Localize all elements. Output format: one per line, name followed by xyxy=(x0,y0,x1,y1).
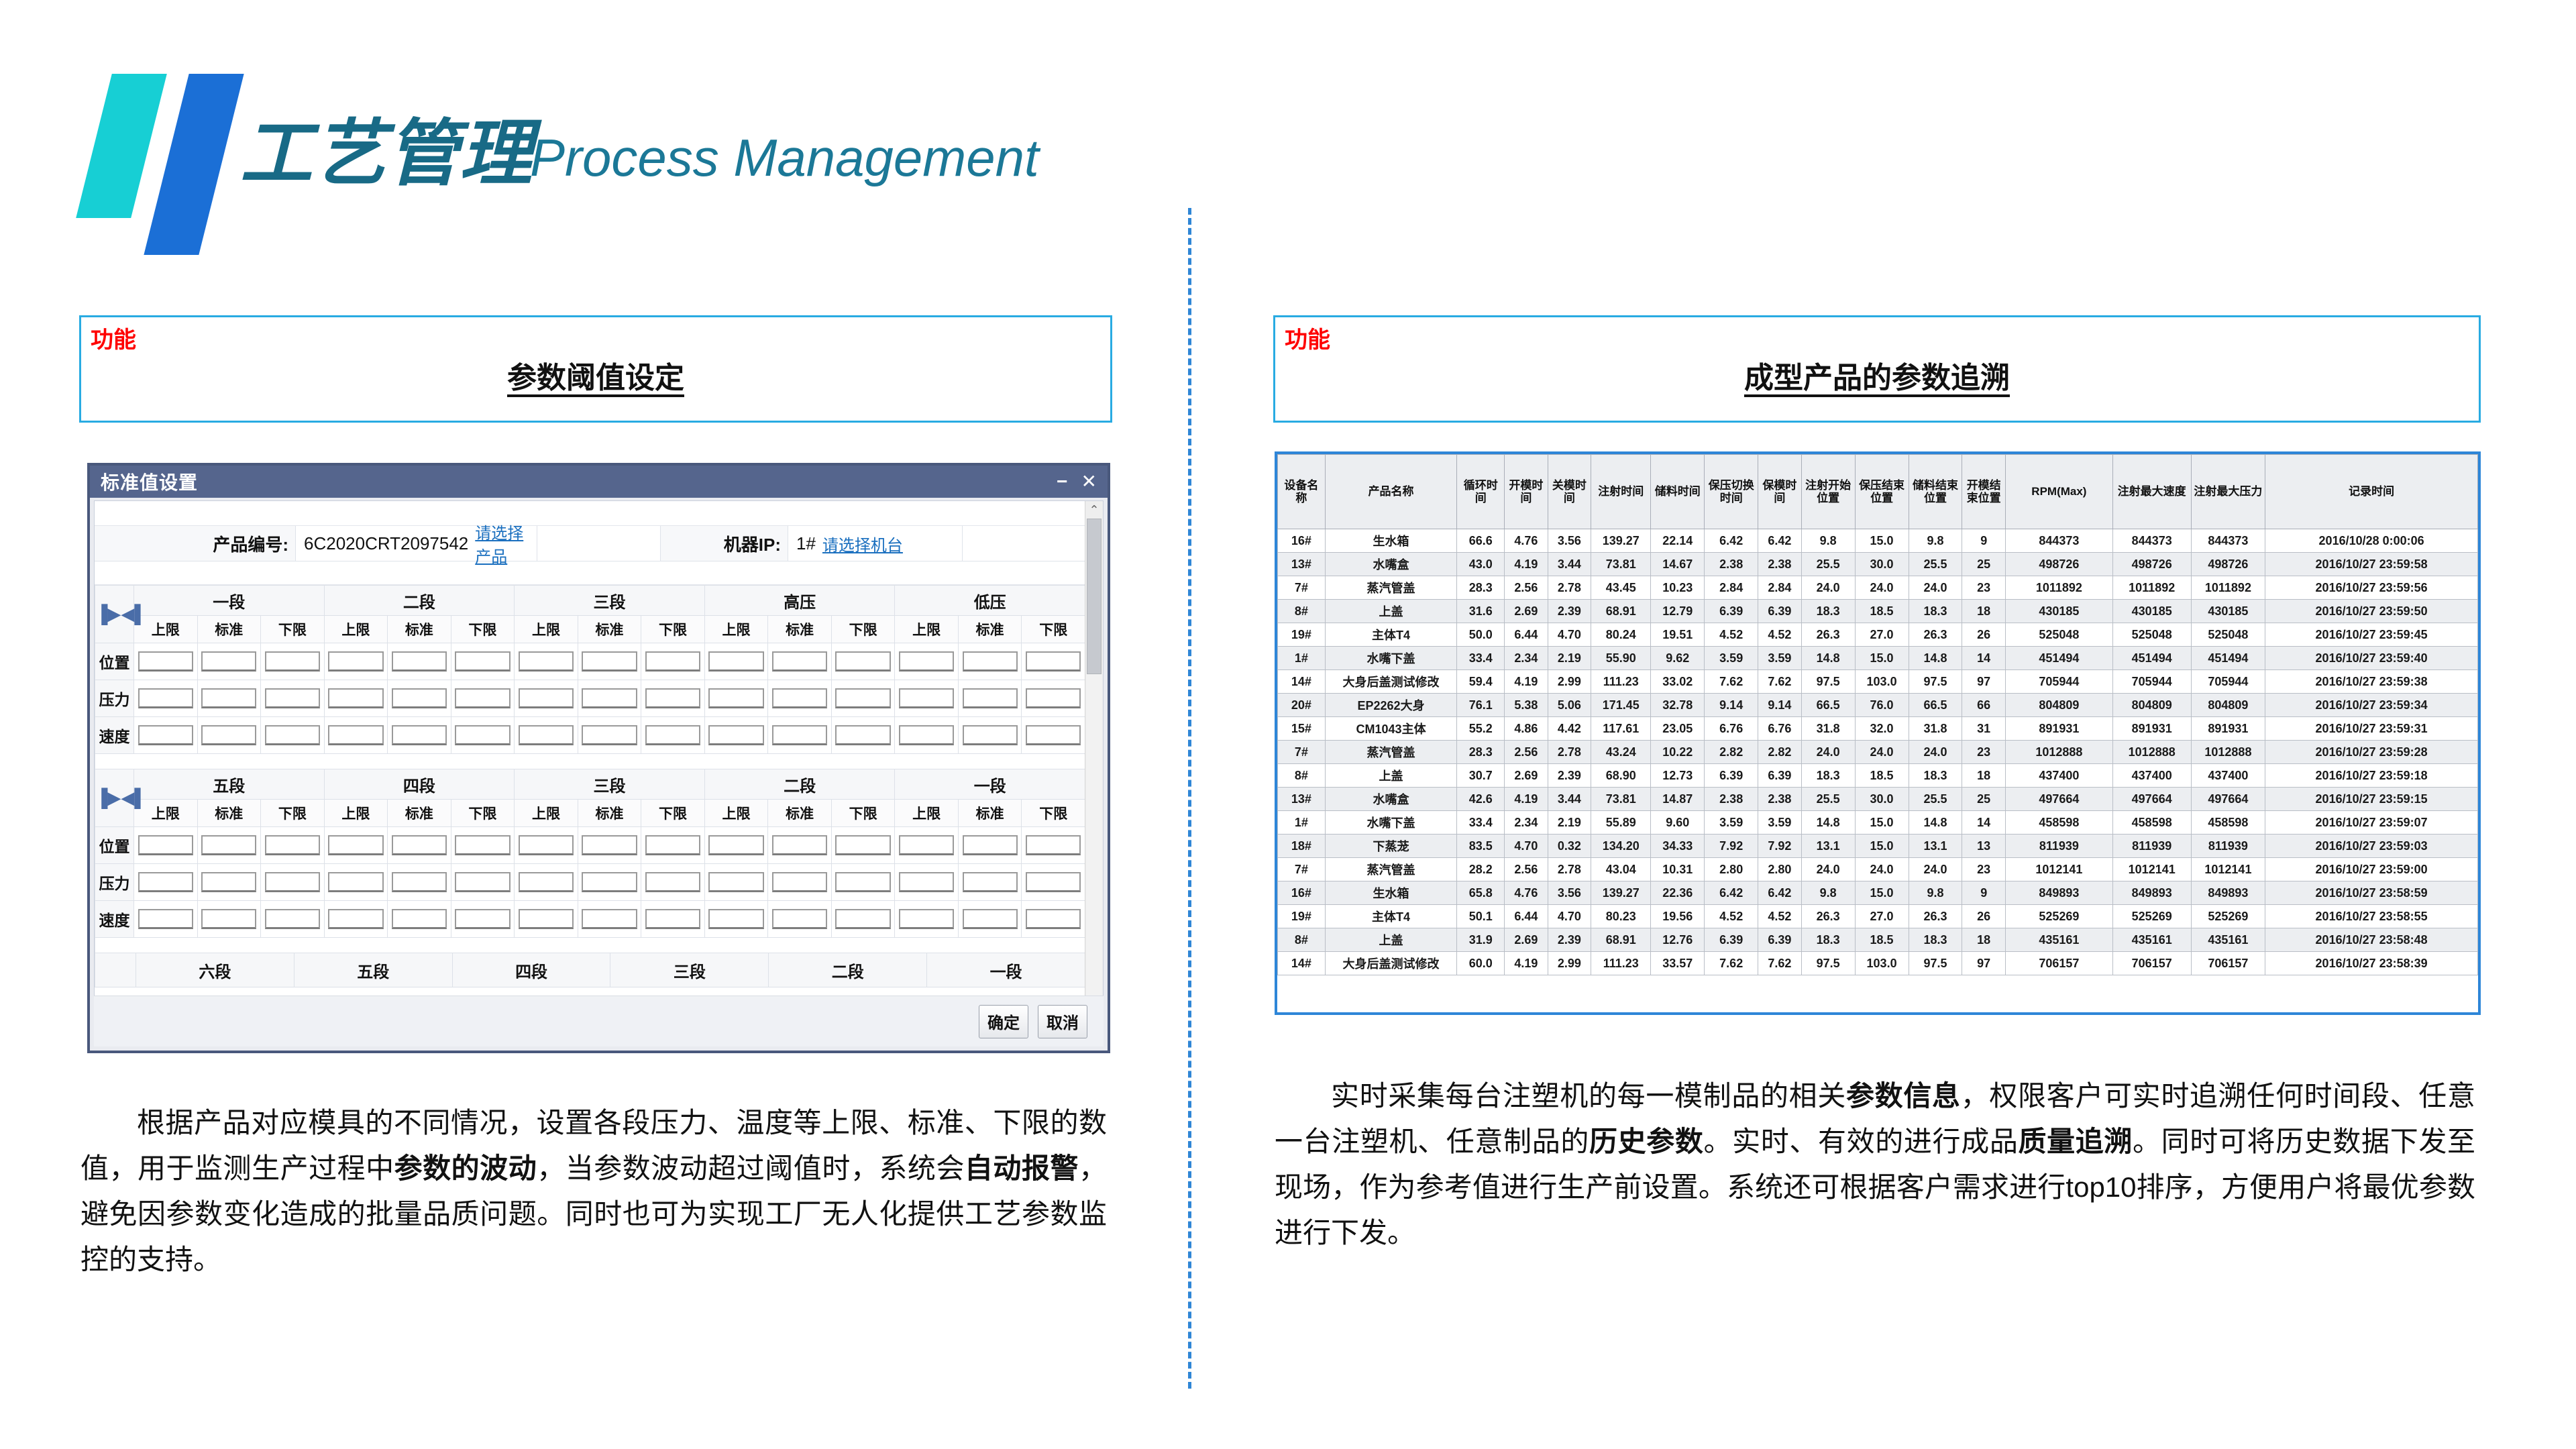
table-row[interactable]: 16#生水箱65.84.763.56139.2722.366.426.429.8… xyxy=(1278,881,2478,905)
parameter-input[interactable] xyxy=(708,872,763,892)
page-title-en: Process Management xyxy=(530,131,1039,184)
parameter-input-cell[interactable] xyxy=(895,827,959,864)
parameter-input[interactable] xyxy=(201,909,256,929)
table-cell: 1011892 xyxy=(2005,576,2112,600)
table-cell: 97 xyxy=(1962,670,2006,694)
parameter-input[interactable] xyxy=(1026,651,1081,672)
parameter-input[interactable] xyxy=(708,651,763,672)
parameter-input[interactable] xyxy=(519,872,574,892)
parameter-input-cell[interactable] xyxy=(1022,901,1085,938)
ok-button[interactable]: 确定 xyxy=(979,1005,1028,1038)
parameter-input[interactable] xyxy=(328,651,383,672)
bottom-segment-header-4[interactable]: 三段 xyxy=(610,953,769,987)
parameter-input[interactable] xyxy=(582,909,637,929)
parameter-input-cell[interactable] xyxy=(895,680,959,717)
parameter-input-cell[interactable] xyxy=(324,901,388,938)
parameter-input[interactable] xyxy=(1026,688,1081,708)
parameter-input-cell[interactable] xyxy=(768,827,832,864)
parameter-input-cell[interactable] xyxy=(641,827,705,864)
parameter-input-cell[interactable] xyxy=(768,717,832,754)
parameter-input[interactable] xyxy=(582,835,637,855)
parameter-input-cell[interactable] xyxy=(388,680,451,717)
scrollbar-thumb[interactable] xyxy=(1087,519,1102,674)
parameter-input-cell[interactable] xyxy=(324,680,388,717)
parameter-input[interactable] xyxy=(899,909,954,929)
parameter-input[interactable] xyxy=(265,688,320,708)
limit-header-cell: 上限 xyxy=(515,616,578,643)
parameter-input-cell[interactable] xyxy=(197,864,261,901)
parameter-input[interactable] xyxy=(392,651,447,672)
table-cell: 27.0 xyxy=(1855,905,1909,928)
parameter-input-cell[interactable] xyxy=(831,901,895,938)
table-cell: 1# xyxy=(1278,811,1326,835)
parameter-input[interactable] xyxy=(963,872,1018,892)
bottom-segment-header-1[interactable]: 六段 xyxy=(136,953,294,987)
parameter-input[interactable] xyxy=(201,688,256,708)
parameter-input-cell[interactable] xyxy=(704,680,768,717)
bottom-segment-header-3[interactable]: 四段 xyxy=(452,953,610,987)
product-code-value: 6C2020CRT2097542 xyxy=(304,533,468,554)
table-cell: 24.0 xyxy=(1801,741,1855,764)
parameter-input-cell[interactable] xyxy=(578,717,641,754)
parameter-input[interactable] xyxy=(899,651,954,672)
bottom-segment-header-2[interactable]: 五段 xyxy=(294,953,452,987)
parameter-input-cell[interactable] xyxy=(261,680,325,717)
limit-header-row: 上限标准下限上限标准下限上限标准下限上限标准下限上限标准下限 xyxy=(95,800,1085,827)
table-row[interactable]: 16#生水箱66.64.763.56139.2722.146.426.429.8… xyxy=(1278,529,2478,553)
parameter-input-cell[interactable] xyxy=(515,717,578,754)
limit-header-cell: 上限 xyxy=(704,800,768,827)
parameter-input[interactable] xyxy=(963,725,1018,745)
trace-col-header-17[interactable]: 记录时间 xyxy=(2265,455,2478,529)
parameter-input-cell[interactable] xyxy=(958,680,1022,717)
parameter-input-cell[interactable] xyxy=(641,901,705,938)
table-cell: 134.20 xyxy=(1591,835,1651,858)
parameter-input[interactable] xyxy=(138,725,193,745)
limit-header-cell: 标准 xyxy=(388,800,451,827)
parameter-input-cell[interactable] xyxy=(704,864,768,901)
table-cell: 3.44 xyxy=(1548,788,1591,811)
parameter-input[interactable] xyxy=(392,909,447,929)
parameter-input-cell[interactable] xyxy=(451,864,515,901)
parameter-input-cell[interactable] xyxy=(261,901,325,938)
parameter-input[interactable] xyxy=(138,688,193,708)
parameter-input[interactable] xyxy=(328,872,383,892)
parameter-input[interactable] xyxy=(328,909,383,929)
parameter-input-cell[interactable] xyxy=(261,827,325,864)
parameter-input-cell[interactable] xyxy=(578,827,641,864)
trace-col-header-1[interactable]: 设备名称 xyxy=(1278,455,1326,529)
table-cell: 1011892 xyxy=(2112,576,2191,600)
table-cell: 18.3 xyxy=(1909,928,1962,952)
table-cell: EP2262大身 xyxy=(1325,694,1457,717)
parameter-input-cell[interactable] xyxy=(831,827,895,864)
machine-ip-value: 1# xyxy=(796,533,816,554)
limit-header-cell: 下限 xyxy=(831,800,895,827)
table-cell: 2.34 xyxy=(1505,647,1548,670)
table-cell: 451494 xyxy=(2191,647,2265,670)
parameter-input[interactable] xyxy=(963,688,1018,708)
table-cell: 525269 xyxy=(2112,905,2191,928)
parameter-input[interactable] xyxy=(265,725,320,745)
parameter-input-cell[interactable] xyxy=(451,643,515,680)
table-cell: 14.8 xyxy=(1909,647,1962,670)
parameter-input-cell[interactable] xyxy=(641,643,705,680)
trace-col-header-10[interactable]: 注射开始位置 xyxy=(1801,455,1855,529)
parameter-input-cell[interactable] xyxy=(831,864,895,901)
parameter-input-cell[interactable] xyxy=(324,643,388,680)
parameter-input-cell[interactable] xyxy=(134,901,198,938)
parameter-input[interactable] xyxy=(138,835,193,855)
parameter-input[interactable] xyxy=(328,688,383,708)
parameter-input-cell[interactable] xyxy=(388,901,451,938)
table-row[interactable]: 15#CM1043主体55.24.864.42117.6123.056.766.… xyxy=(1278,717,2478,741)
table-cell: 891931 xyxy=(2005,717,2112,741)
parameter-grid-section-2[interactable]: ▐▶◀▌五段四段三段二段一段上限标准下限上限标准下限上限标准下限上限标准下限上限… xyxy=(95,769,1085,938)
parameter-input[interactable] xyxy=(201,725,256,745)
parameter-input[interactable] xyxy=(708,909,763,929)
parameter-input[interactable] xyxy=(201,872,256,892)
scrollbar-track[interactable] xyxy=(1087,674,1102,1028)
parameter-input[interactable] xyxy=(201,835,256,855)
parameter-input-cell[interactable] xyxy=(578,901,641,938)
parameter-grid-section-1[interactable]: ▐▶◀▌一段二段三段高压低压上限标准下限上限标准下限上限标准下限上限标准下限上限… xyxy=(95,585,1085,754)
parameter-input-cell[interactable] xyxy=(831,680,895,717)
parameter-input[interactable] xyxy=(519,909,574,929)
parameter-row: 位置 xyxy=(95,827,1085,864)
parameter-input[interactable] xyxy=(265,835,320,855)
parameter-trace-table-container[interactable]: 设备名称产品名称循环时间开模时间关模时间注射时间储料时间保压切换时间保模时间注射… xyxy=(1275,451,2481,1015)
parameter-input[interactable] xyxy=(963,651,1018,672)
parameter-input[interactable] xyxy=(455,872,510,892)
parameter-input[interactable] xyxy=(455,909,510,929)
parameter-input[interactable] xyxy=(1026,872,1081,892)
parameter-input-cell[interactable] xyxy=(515,643,578,680)
parameter-input[interactable] xyxy=(582,872,637,892)
parameter-input-cell[interactable] xyxy=(958,717,1022,754)
table-cell: 2.80 xyxy=(1705,858,1758,881)
parameter-input[interactable] xyxy=(835,835,890,855)
parameter-input[interactable] xyxy=(899,835,954,855)
parameter-input[interactable] xyxy=(899,725,954,745)
parameter-input[interactable] xyxy=(645,872,700,892)
table-row[interactable]: 19#主体T450.06.444.7080.2419.514.524.5226.… xyxy=(1278,623,2478,647)
parameter-input-cell[interactable] xyxy=(768,864,832,901)
trace-col-header-5[interactable]: 关模时间 xyxy=(1548,455,1591,529)
parameter-input-cell[interactable] xyxy=(197,717,261,754)
parameter-input[interactable] xyxy=(1026,909,1081,929)
table-cell: 26.3 xyxy=(1909,905,1962,928)
parameter-input-cell[interactable] xyxy=(515,864,578,901)
parameter-input-cell[interactable] xyxy=(451,717,515,754)
trace-col-header-14[interactable]: RPM(Max) xyxy=(2005,455,2112,529)
parameter-input[interactable] xyxy=(645,835,700,855)
parameter-input-cell[interactable] xyxy=(388,643,451,680)
table-cell: 68.90 xyxy=(1591,764,1651,788)
parameter-input-cell[interactable] xyxy=(261,643,325,680)
parameter-input-cell[interactable] xyxy=(641,864,705,901)
parameter-input-cell[interactable] xyxy=(261,717,325,754)
parameter-input[interactable] xyxy=(645,651,700,672)
parameter-trace-table[interactable]: 设备名称产品名称循环时间开模时间关模时间注射时间储料时间保压切换时间保模时间注射… xyxy=(1277,454,2478,975)
parameter-input[interactable] xyxy=(519,651,574,672)
parameter-input-cell[interactable] xyxy=(1022,680,1085,717)
trace-col-header-8[interactable]: 保压切换时间 xyxy=(1705,455,1758,529)
parameter-input[interactable] xyxy=(455,835,510,855)
table-row[interactable]: 7#蒸汽管盖28.32.562.7843.4510.232.842.8424.0… xyxy=(1278,576,2478,600)
table-row[interactable]: 8#上盖31.62.692.3968.9112.796.396.3918.318… xyxy=(1278,600,2478,623)
parameter-input-cell[interactable] xyxy=(704,717,768,754)
parameter-input-cell[interactable] xyxy=(578,643,641,680)
parameter-input-cell[interactable] xyxy=(388,827,451,864)
parameter-input[interactable] xyxy=(772,688,827,708)
parameter-input-cell[interactable] xyxy=(895,901,959,938)
parameter-input[interactable] xyxy=(772,909,827,929)
parameter-input-cell[interactable] xyxy=(958,827,1022,864)
parameter-input[interactable] xyxy=(328,835,383,855)
parameter-input[interactable] xyxy=(455,651,510,672)
trace-col-header-3[interactable]: 循环时间 xyxy=(1457,455,1505,529)
table-cell: 14.67 xyxy=(1651,553,1705,576)
table-row[interactable]: 18#下蒸茏83.54.700.32134.2034.337.927.9213.… xyxy=(1278,835,2478,858)
parameter-input[interactable] xyxy=(519,725,574,745)
table-cell: 19# xyxy=(1278,905,1326,928)
parameter-input-cell[interactable] xyxy=(958,864,1022,901)
parameter-input[interactable] xyxy=(835,725,890,745)
product-code-label: 产品编号: xyxy=(95,526,296,561)
parameter-input[interactable] xyxy=(963,909,1018,929)
parameter-input[interactable] xyxy=(392,835,447,855)
trace-col-header-12[interactable]: 储料结束位置 xyxy=(1909,455,1962,529)
minimize-icon[interactable]: − xyxy=(1057,472,1067,491)
dialog-vertical-scrollbar[interactable]: ⌃ ⌄ xyxy=(1085,501,1103,1046)
limit-header-cell: 标准 xyxy=(958,616,1022,643)
table-cell: 6.44 xyxy=(1505,623,1548,647)
parameter-input-cell[interactable] xyxy=(451,827,515,864)
parameter-input-cell[interactable] xyxy=(768,901,832,938)
parameter-input[interactable] xyxy=(201,651,256,672)
cancel-button[interactable]: 取消 xyxy=(1038,1005,1087,1038)
table-row[interactable]: 8#上盖30.72.692.3968.9012.736.396.3918.318… xyxy=(1278,764,2478,788)
table-cell: 525269 xyxy=(2191,905,2265,928)
parameter-input-cell[interactable] xyxy=(324,827,388,864)
parameter-input[interactable] xyxy=(392,725,447,745)
parameter-input-cell[interactable] xyxy=(641,680,705,717)
parameter-input-cell[interactable] xyxy=(451,901,515,938)
trace-col-header-16[interactable]: 注射最大压力 xyxy=(2191,455,2265,529)
table-cell: 498726 xyxy=(2191,553,2265,576)
parameter-input-cell[interactable] xyxy=(895,864,959,901)
parameter-input[interactable] xyxy=(265,872,320,892)
parameter-input[interactable] xyxy=(772,872,827,892)
parameter-input[interactable] xyxy=(835,651,890,672)
parameter-grid-section-3-header[interactable]: 六段五段四段三段二段一段 xyxy=(95,953,1085,987)
parameter-input-cell[interactable] xyxy=(324,864,388,901)
parameter-input-cell[interactable] xyxy=(324,717,388,754)
parameter-input[interactable] xyxy=(265,651,320,672)
trace-table-body[interactable]: 16#生水箱66.64.763.56139.2722.146.426.429.8… xyxy=(1278,529,2478,975)
trace-col-header-11[interactable]: 保压结束位置 xyxy=(1855,455,1909,529)
parameter-input-cell[interactable] xyxy=(134,680,198,717)
parameter-input-cell[interactable] xyxy=(197,680,261,717)
parameter-input[interactable] xyxy=(708,688,763,708)
table-cell: 7.92 xyxy=(1758,835,1802,858)
table-cell: 2.56 xyxy=(1505,741,1548,764)
parameter-input-cell[interactable] xyxy=(831,643,895,680)
parameter-input-cell[interactable] xyxy=(197,901,261,938)
trace-col-header-4[interactable]: 开模时间 xyxy=(1505,455,1548,529)
table-cell: 14 xyxy=(1962,811,2006,835)
table-row[interactable]: 13#水嘴盒43.04.193.4473.8114.672.382.3825.5… xyxy=(1278,553,2478,576)
parameter-input[interactable] xyxy=(582,725,637,745)
table-cell: 60.0 xyxy=(1457,952,1505,975)
product-code-field[interactable]: 6C2020CRT2097542 请选择产品 xyxy=(296,526,537,561)
trace-col-header-6[interactable]: 注射时间 xyxy=(1591,455,1651,529)
parameter-input-cell[interactable] xyxy=(578,680,641,717)
table-cell: 73.81 xyxy=(1591,553,1651,576)
parameter-input-cell[interactable] xyxy=(895,717,959,754)
parameter-input[interactable] xyxy=(1026,725,1081,745)
table-cell: 24.0 xyxy=(1855,741,1909,764)
parameter-input[interactable] xyxy=(582,688,637,708)
parameter-input-cell[interactable] xyxy=(768,680,832,717)
table-cell: 19# xyxy=(1278,623,1326,647)
parameter-input-cell[interactable] xyxy=(388,717,451,754)
table-cell: 6.39 xyxy=(1705,764,1758,788)
trace-col-header-15[interactable]: 注射最大速度 xyxy=(2112,455,2191,529)
parameter-input-cell[interactable] xyxy=(197,827,261,864)
parameter-input-cell[interactable] xyxy=(197,643,261,680)
parameter-input[interactable] xyxy=(392,872,447,892)
table-row[interactable]: 20#EP2262大身76.15.385.06171.4532.789.149.… xyxy=(1278,694,2478,717)
limit-header-cell: 下限 xyxy=(1022,616,1085,643)
table-cell: 12.76 xyxy=(1651,928,1705,952)
parameter-input[interactable] xyxy=(138,909,193,929)
table-cell: 6.39 xyxy=(1758,764,1802,788)
bottom-segment-header-5[interactable]: 二段 xyxy=(769,953,927,987)
parameter-input-cell[interactable] xyxy=(515,901,578,938)
parameter-input[interactable] xyxy=(519,688,574,708)
trace-col-header-13[interactable]: 开模结束位置 xyxy=(1962,455,2006,529)
parameter-input[interactable] xyxy=(1026,835,1081,855)
parameter-input-cell[interactable] xyxy=(831,717,895,754)
parameter-input-cell[interactable] xyxy=(261,864,325,901)
table-row[interactable]: 13#水嘴盒42.64.193.4473.8114.872.382.3825.5… xyxy=(1278,788,2478,811)
table-row[interactable]: 14#大身后盖测试修改60.04.192.99111.2333.577.627.… xyxy=(1278,952,2478,975)
parameter-input[interactable] xyxy=(582,651,637,672)
table-cell: 458598 xyxy=(2191,811,2265,835)
table-row[interactable]: 8#上盖31.92.692.3968.9112.766.396.3918.318… xyxy=(1278,928,2478,952)
parameter-input[interactable] xyxy=(328,725,383,745)
parameter-input[interactable] xyxy=(835,688,890,708)
parameter-input[interactable] xyxy=(455,688,510,708)
scroll-up-arrow-icon[interactable]: ⌃ xyxy=(1085,501,1103,519)
paragraph-text: 实时采集每台注塑机的每一模制品的相关 xyxy=(1331,1080,1846,1112)
parameter-input[interactable] xyxy=(645,688,700,708)
parameter-input-cell[interactable] xyxy=(515,827,578,864)
parameter-input[interactable] xyxy=(392,688,447,708)
standard-value-settings-dialog[interactable]: 标准值设置 − ✕ 产品编号: 6C2020CRT2097542 请选择产品 机… xyxy=(87,463,1110,1053)
table-cell: 主体T4 xyxy=(1325,623,1457,647)
trace-col-header-9[interactable]: 保模时间 xyxy=(1758,455,1802,529)
table-row[interactable]: 14#大身后盖测试修改59.44.192.99111.2333.027.627.… xyxy=(1278,670,2478,694)
parameter-input-cell[interactable] xyxy=(388,864,451,901)
parameter-input-cell[interactable] xyxy=(134,864,198,901)
parameter-input[interactable] xyxy=(899,688,954,708)
section-gap-2 xyxy=(95,938,1085,953)
parameter-input-cell[interactable] xyxy=(958,643,1022,680)
table-cell: 73.81 xyxy=(1591,788,1651,811)
parameter-input[interactable] xyxy=(835,872,890,892)
parameter-input[interactable] xyxy=(835,909,890,929)
parameter-input[interactable] xyxy=(645,725,700,745)
parameter-input-cell[interactable] xyxy=(641,717,705,754)
parameter-input-cell[interactable] xyxy=(134,827,198,864)
parameter-input[interactable] xyxy=(708,725,763,745)
parameter-input[interactable] xyxy=(455,725,510,745)
parameter-input-cell[interactable] xyxy=(451,680,515,717)
parameter-input-cell[interactable] xyxy=(515,680,578,717)
close-icon[interactable]: ✕ xyxy=(1081,472,1097,491)
segment-header-3: 三段 xyxy=(515,769,705,800)
select-product-link[interactable]: 请选择产品 xyxy=(475,520,537,567)
trace-col-header-2[interactable]: 产品名称 xyxy=(1325,455,1457,529)
table-cell: 2016/10/27 23:58:39 xyxy=(2265,952,2478,975)
parameter-input[interactable] xyxy=(708,835,763,855)
parameter-input-cell[interactable] xyxy=(578,864,641,901)
table-row[interactable]: 1#水嘴下盖33.42.342.1955.909.623.593.5914.81… xyxy=(1278,647,2478,670)
table-cell: 13.1 xyxy=(1909,835,1962,858)
parameter-input-cell[interactable] xyxy=(958,901,1022,938)
segment-header-3: 三段 xyxy=(515,586,705,616)
table-cell: 2.56 xyxy=(1505,858,1548,881)
parameter-input[interactable] xyxy=(138,872,193,892)
bottom-segment-header-6[interactable]: 一段 xyxy=(927,953,1085,987)
parameter-input-cell[interactable] xyxy=(1022,717,1085,754)
table-cell: 28.2 xyxy=(1457,858,1505,881)
table-row[interactable]: 7#蒸汽管盖28.22.562.7843.0410.312.802.8024.0… xyxy=(1278,858,2478,881)
table-row[interactable]: 1#水嘴下盖33.42.342.1955.899.603.593.5914.81… xyxy=(1278,811,2478,835)
parameter-input[interactable] xyxy=(963,835,1018,855)
parameter-input-cell[interactable] xyxy=(1022,643,1085,680)
trace-col-header-7[interactable]: 储料时间 xyxy=(1651,455,1705,529)
parameter-input[interactable] xyxy=(772,725,827,745)
parameter-input-cell[interactable] xyxy=(1022,864,1085,901)
parameter-input-cell[interactable] xyxy=(704,827,768,864)
parameter-input-cell[interactable] xyxy=(134,717,198,754)
parameter-input[interactable] xyxy=(645,909,700,929)
table-row[interactable]: 19#主体T450.16.444.7080.2319.564.524.5226.… xyxy=(1278,905,2478,928)
parameter-input[interactable] xyxy=(772,651,827,672)
table-cell: 31.6 xyxy=(1457,600,1505,623)
parameter-input-cell[interactable] xyxy=(704,901,768,938)
parameter-input[interactable] xyxy=(519,835,574,855)
parameter-input[interactable] xyxy=(138,651,193,672)
parameter-input-cell[interactable] xyxy=(895,643,959,680)
machine-ip-field[interactable]: 1# 请选择机台 xyxy=(788,526,963,561)
select-machine-link[interactable]: 请选择机台 xyxy=(822,532,903,555)
parameter-input[interactable] xyxy=(772,835,827,855)
table-cell: 9.8 xyxy=(1909,881,1962,905)
parameter-input-cell[interactable] xyxy=(1022,827,1085,864)
parameter-input-cell[interactable] xyxy=(768,643,832,680)
table-row[interactable]: 7#蒸汽管盖28.32.562.7843.2410.222.822.8224.0… xyxy=(1278,741,2478,764)
parameter-input-cell[interactable] xyxy=(704,643,768,680)
parameter-input-cell[interactable] xyxy=(134,643,198,680)
function-tag-left: 功能 xyxy=(91,321,136,354)
parameter-input[interactable] xyxy=(265,909,320,929)
parameter-input[interactable] xyxy=(899,872,954,892)
